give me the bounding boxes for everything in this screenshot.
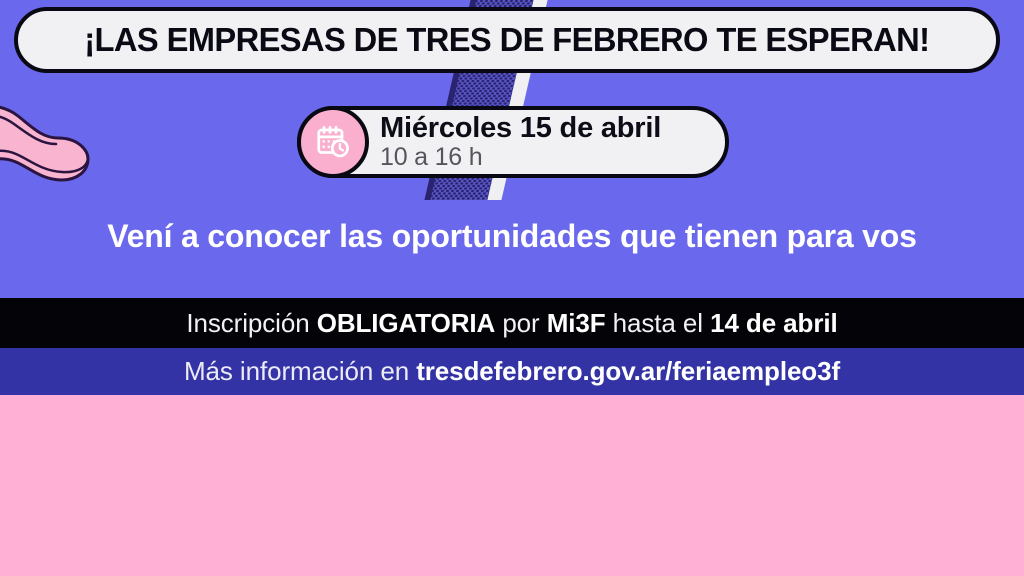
registration-platform: Mi3F (547, 308, 606, 338)
more-info-bar: Más información en tresdefebrero.gov.ar/… (0, 348, 1024, 395)
more-info-text: Más información en tresdefebrero.gov.ar/… (184, 356, 840, 387)
headline-pill: ¡LAS EMPRESAS DE TRES DE FEBRERO TE ESPE… (14, 7, 1000, 73)
event-time: 10 a 16 h (380, 145, 661, 170)
event-date: Miércoles 15 de abril (380, 114, 661, 143)
registration-text: Inscripción OBLIGATORIA por Mi3F hasta e… (186, 308, 837, 339)
footer-band: mi 3F 3F (0, 395, 1024, 576)
registration-mid-1: por (495, 308, 547, 338)
registration-prefix: Inscripción (186, 308, 316, 338)
more-info-prefix: Más información en (184, 356, 416, 386)
registration-deadline: 14 de abril (710, 308, 838, 338)
squiggle-decoration (0, 104, 98, 186)
registration-obligatoria: OBLIGATORIA (317, 308, 496, 338)
website-url[interactable]: tresdefebrero.gov.ar/feriaempleo3f (416, 356, 840, 386)
poster-canvas: ¡LAS EMPRESAS DE TRES DE FEBRERO TE ESPE… (0, 0, 1024, 576)
date-pill: Miércoles 15 de abril 10 a 16 h (297, 106, 729, 178)
registration-bar: Inscripción OBLIGATORIA por Mi3F hasta e… (0, 298, 1024, 348)
registration-mid-2: hasta el (606, 308, 711, 338)
page-title: ¡LAS EMPRESAS DE TRES DE FEBRERO TE ESPE… (84, 21, 929, 59)
date-text-block: Miércoles 15 de abril 10 a 16 h (380, 114, 661, 170)
calendar-clock-icon (297, 106, 369, 178)
tagline: Vení a conocer las oportunidades que tie… (0, 218, 1024, 255)
